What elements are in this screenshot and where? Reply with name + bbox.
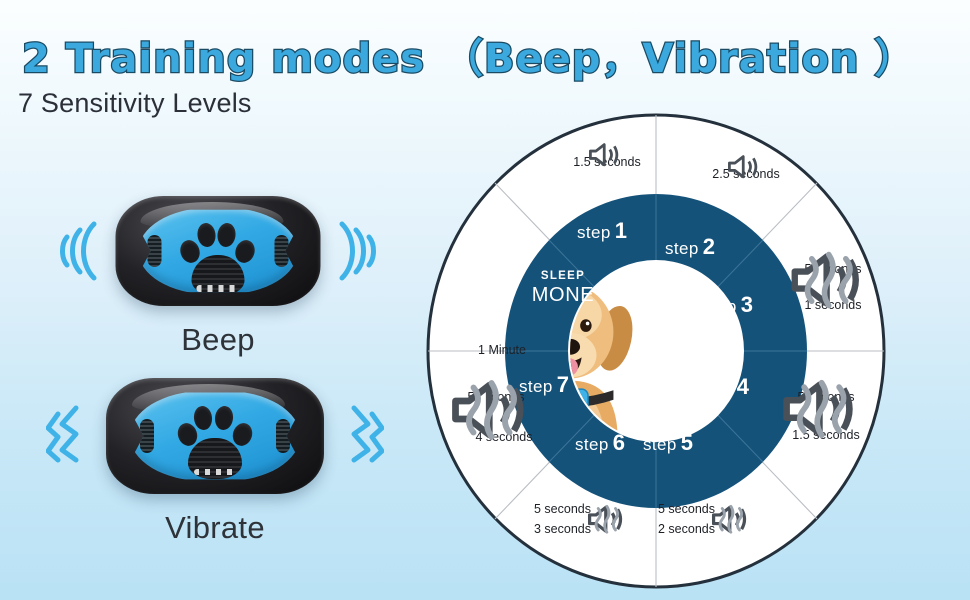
step-word: step xyxy=(703,297,737,316)
product-beep: Beep xyxy=(58,196,378,366)
outer-label-step-6: 5 seconds 3 seconds xyxy=(529,502,689,537)
ring-label-step-4: step4 xyxy=(699,374,749,400)
outer-label-step-1: 1.5 seconds xyxy=(537,140,677,170)
outer-label-sleep-duration: 1 Minute xyxy=(447,343,557,358)
speaker-grille-left-icon xyxy=(140,419,154,453)
collar-device-beep xyxy=(116,196,321,306)
outer-label-step-3: 5 seconds 1 seconds xyxy=(773,246,893,314)
step-word: step xyxy=(643,435,677,454)
step-word: step xyxy=(665,239,699,258)
page-title-main: 2 Training modes xyxy=(22,36,425,82)
ring-label-step-5: step5 xyxy=(643,430,693,456)
device-faceplate xyxy=(130,391,300,481)
step-word: step xyxy=(519,377,553,396)
product-vibrate: Vibrate xyxy=(50,378,380,553)
sensitivity-wheel: 1 Minute 1.5 seconds 2.5 seconds xyxy=(425,112,887,590)
step-number: 2 xyxy=(703,234,716,259)
ring-label-step-7: step7 xyxy=(519,372,569,398)
device-faceplate xyxy=(138,208,298,294)
ring-label-step-1: step1 xyxy=(577,218,627,244)
step-number: 7 xyxy=(557,372,570,397)
sound-wave-right-icon xyxy=(334,214,382,288)
ring-label-step-2: step2 xyxy=(665,234,715,260)
sleep-mode-line2: MONE xyxy=(509,284,617,307)
speaker-grille-right-icon xyxy=(274,235,288,268)
vibration-wave-left-icon xyxy=(46,398,100,476)
product-beep-label: Beep xyxy=(58,322,378,358)
step-number: 4 xyxy=(737,374,750,399)
ring-label-step-3: step3 xyxy=(703,292,753,318)
infographic-canvas: 2 Training modes（Beep，Vibration ） 7 Sens… xyxy=(0,0,970,600)
outer-label-step-4: 5 seconds 1.5 seconds xyxy=(761,374,891,444)
page-title: 2 Training modes（Beep，Vibration ） xyxy=(22,26,915,84)
speaker-grille-right-icon xyxy=(276,419,290,453)
sound-wave-left-icon xyxy=(54,214,102,288)
step-number: 6 xyxy=(613,430,626,455)
step-word: step xyxy=(699,379,733,398)
speaker-grille-left-icon xyxy=(148,235,162,268)
paw-print-icon xyxy=(178,403,252,479)
step-word: step xyxy=(577,223,611,242)
vibration-wave-right-icon xyxy=(330,398,384,476)
sleep-mode-label: SLEEP MONE xyxy=(509,270,617,307)
sleep-mode-line1: SLEEP xyxy=(509,270,617,282)
step-word: step xyxy=(575,435,609,454)
collar-device-vibrate xyxy=(106,378,324,494)
product-vibrate-label: Vibrate xyxy=(50,510,380,546)
paw-print-icon xyxy=(181,220,255,296)
step-number: 1 xyxy=(615,218,628,243)
step-number: 3 xyxy=(741,292,754,317)
ring-label-step-6: step6 xyxy=(575,430,625,456)
page-subtitle: 7 Sensitivity Levels xyxy=(18,88,252,119)
outer-label-step-2: 2.5 seconds xyxy=(671,152,821,182)
step-number: 5 xyxy=(681,430,694,455)
page-title-modes: （Beep，Vibration ） xyxy=(443,36,915,82)
